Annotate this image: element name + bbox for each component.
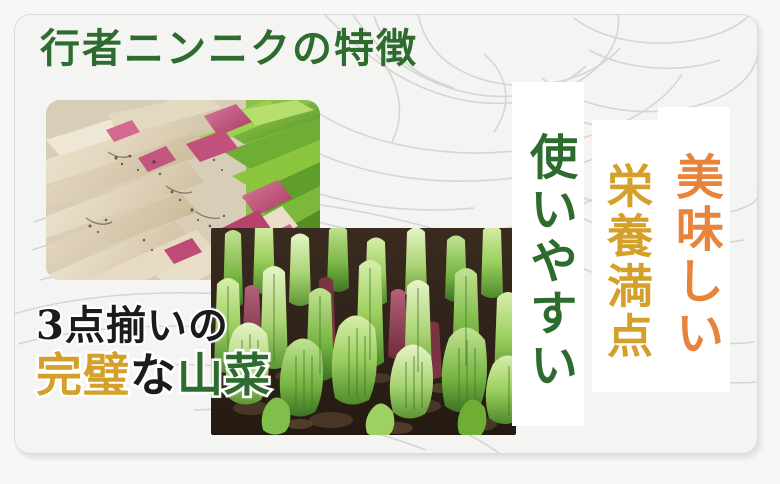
catch-segment-na: な [130, 352, 177, 398]
promo-banner: 行者ニンニクの特徴 [0, 0, 780, 484]
page-title: 行者ニンニクの特徴 [40, 24, 418, 74]
panel-nutrition: 栄養満点 [592, 120, 660, 392]
catch-segment-perfect: 完璧 [36, 352, 130, 398]
catch-copy: 3点揃いの 完璧な山菜 [36, 306, 271, 398]
panel-easy-to-use: 使いやすい [512, 82, 584, 426]
catch-segment-sansai: 山菜 [177, 352, 271, 398]
catch-copy-line-1: 3点揃いの [36, 306, 271, 346]
catch-segment-three-points: 3点揃いの [36, 306, 229, 346]
panel-delicious: 美味しい [658, 107, 730, 392]
catch-copy-line-2: 完璧な山菜 [36, 352, 271, 398]
